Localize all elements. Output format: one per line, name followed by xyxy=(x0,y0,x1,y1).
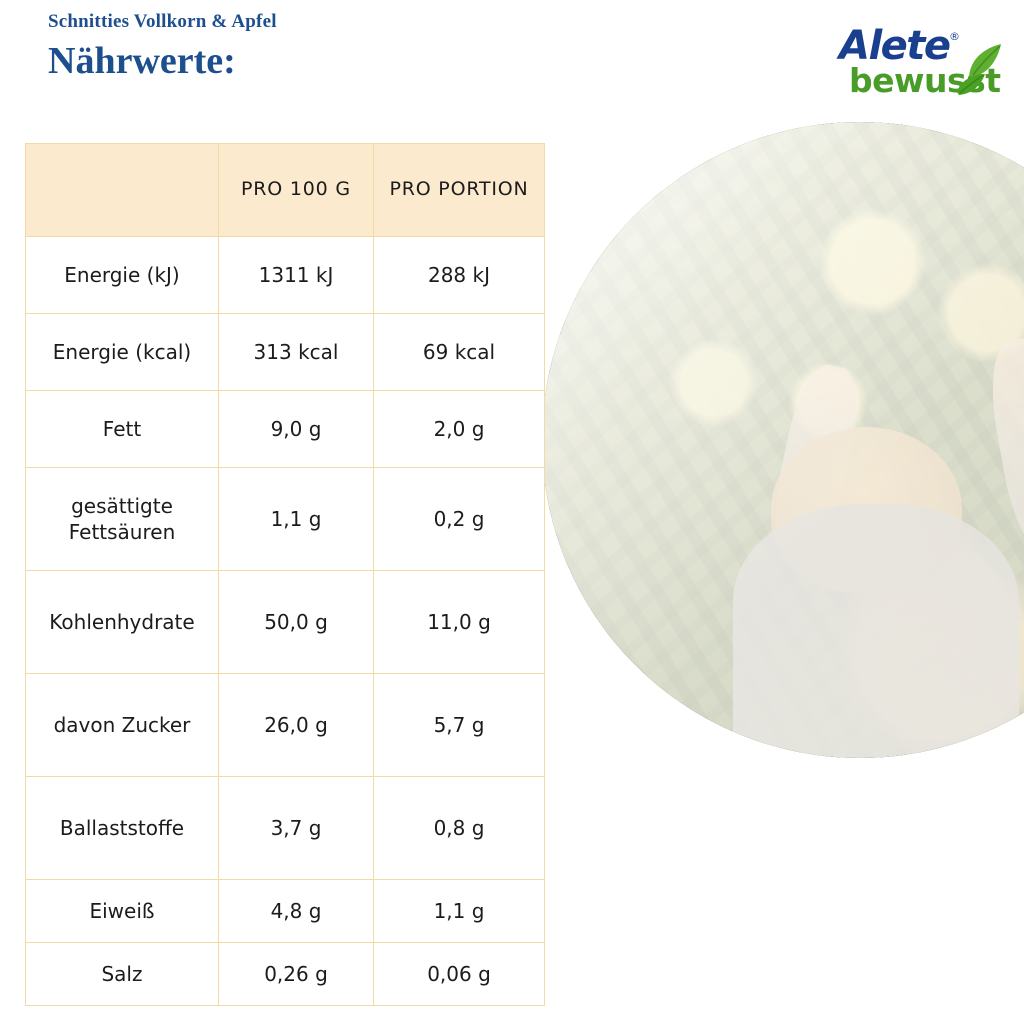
nutrient-label: Kohlenhydrate xyxy=(26,571,219,674)
brand-logo: Alete ® bewusst xyxy=(831,26,1006,110)
nutrient-per-100g: 313 kcal xyxy=(219,314,374,391)
table-row: Ballaststoffe 3,7 g 0,8 g xyxy=(26,777,545,880)
photo-overlay-wash xyxy=(542,122,1024,758)
logo-wordmark-alete: Alete xyxy=(839,26,950,66)
nutrient-per-portion: 1,1 g xyxy=(374,880,545,943)
nutrient-label: Salz xyxy=(26,943,219,1006)
table-row: Energie (kcal) 313 kcal 69 kcal xyxy=(26,314,545,391)
nutrient-label: Fett xyxy=(26,391,219,468)
nutrient-per-portion: 69 kcal xyxy=(374,314,545,391)
table-row: Fett 9,0 g 2,0 g xyxy=(26,391,545,468)
product-subtitle: Schnitties Vollkorn & Apfel xyxy=(48,10,668,34)
product-photo-circle xyxy=(542,122,1024,758)
nutrient-per-portion: 5,7 g xyxy=(374,674,545,777)
nutrient-per-100g: 3,7 g xyxy=(219,777,374,880)
column-header-blank xyxy=(26,144,219,237)
table-row: davon Zucker 26,0 g 5,7 g xyxy=(26,674,545,777)
nutrient-label: Eiweiß xyxy=(26,880,219,943)
column-header-per-portion: PRO PORTION xyxy=(374,144,545,237)
table-row: gesättigte Fettsäuren 1,1 g 0,2 g xyxy=(26,468,545,571)
nutrient-per-portion: 0,06 g xyxy=(374,943,545,1006)
nutrient-per-portion: 11,0 g xyxy=(374,571,545,674)
nutrient-label: Energie (kJ) xyxy=(26,237,219,314)
nutrient-per-100g: 9,0 g xyxy=(219,391,374,468)
nutrition-table: PRO 100 G PRO PORTION Energie (kJ) 1311 … xyxy=(25,143,545,1006)
table-row: Energie (kJ) 1311 kJ 288 kJ xyxy=(26,237,545,314)
column-header-per-100g: PRO 100 G xyxy=(219,144,374,237)
nutrient-label: davon Zucker xyxy=(26,674,219,777)
table-row: Kohlenhydrate 50,0 g 11,0 g xyxy=(26,571,545,674)
leaf-icon xyxy=(951,42,1003,98)
nutrient-per-100g: 0,26 g xyxy=(219,943,374,1006)
nutrient-per-100g: 1311 kJ xyxy=(219,237,374,314)
table-header-row: PRO 100 G PRO PORTION xyxy=(26,144,545,237)
nutrient-per-portion: 0,8 g xyxy=(374,777,545,880)
nutrient-per-100g: 4,8 g xyxy=(219,880,374,943)
nutrient-label: Ballaststoffe xyxy=(26,777,219,880)
table-row: Eiweiß 4,8 g 1,1 g xyxy=(26,880,545,943)
page-title: Nährwerte: xyxy=(48,38,668,86)
table-row: Salz 0,26 g 0,06 g xyxy=(26,943,545,1006)
header-block: Schnitties Vollkorn & Apfel Nährwerte: xyxy=(48,10,668,85)
nutrient-per-portion: 288 kJ xyxy=(374,237,545,314)
nutrient-per-portion: 0,2 g xyxy=(374,468,545,571)
nutrient-per-100g: 26,0 g xyxy=(219,674,374,777)
nutrient-per-100g: 1,1 g xyxy=(219,468,374,571)
nutrient-label: Energie (kcal) xyxy=(26,314,219,391)
nutrient-per-portion: 2,0 g xyxy=(374,391,545,468)
nutrient-label: gesättigte Fettsäuren xyxy=(26,468,219,571)
nutrient-per-100g: 50,0 g xyxy=(219,571,374,674)
